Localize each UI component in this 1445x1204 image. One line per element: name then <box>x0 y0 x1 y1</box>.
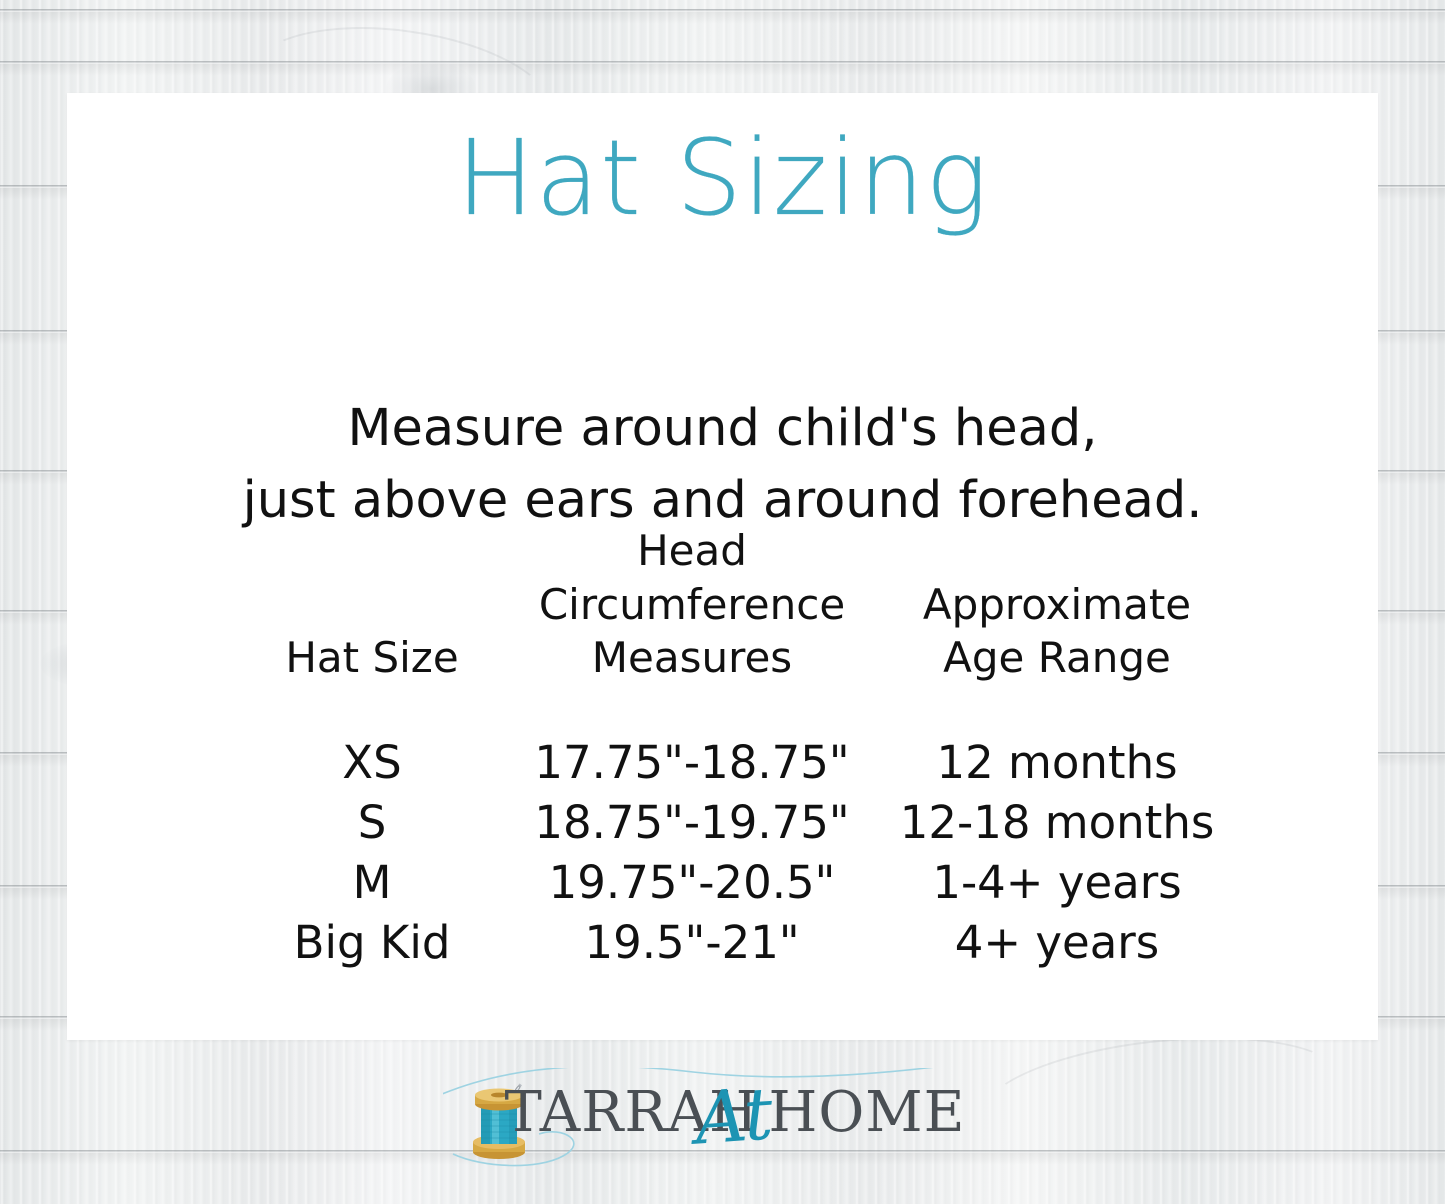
header-body-spacer <box>237 687 1237 733</box>
sizing-chart-image: Hat Sizing Measure around child's head, … <box>0 0 1445 1204</box>
header-line: Hat Size <box>285 631 458 685</box>
cell-hat-size: M <box>237 853 507 913</box>
instruction-line-1: Measure around child's head, <box>67 393 1378 465</box>
header-line: Age Range <box>943 631 1171 685</box>
brand-logo: TARRAH At HOME <box>0 1068 1445 1198</box>
logo-word-at: At <box>692 1071 773 1160</box>
header-line: Measures <box>592 631 792 685</box>
cell-age-range: 12-18 months <box>877 793 1237 853</box>
column-header-age-range: Approximate Age Range <box>877 513 1237 687</box>
header-line: Head <box>637 524 747 578</box>
cell-circumference: 19.75"-20.5" <box>507 853 877 913</box>
cell-age-range: 1-4+ years <box>877 853 1237 913</box>
column-header-hat-size: Hat Size <box>237 513 507 687</box>
cell-hat-size: Big Kid <box>237 913 507 973</box>
cell-circumference: 17.75"-18.75" <box>507 733 877 793</box>
hat-sizing-table: Hat Size Head Circumference Measures App… <box>237 513 1237 972</box>
page-title: Hat Sizing <box>67 121 1378 235</box>
cell-circumference: 18.75"-19.75" <box>507 793 877 853</box>
cell-age-range: 12 months <box>877 733 1237 793</box>
cell-hat-size: XS <box>237 733 507 793</box>
cell-circumference: 19.5"-21" <box>507 913 877 973</box>
header-line: Approximate <box>923 578 1191 632</box>
cell-age-range: 4+ years <box>877 913 1237 973</box>
cell-hat-size: S <box>237 793 507 853</box>
sizing-card: Hat Sizing Measure around child's head, … <box>67 93 1378 1040</box>
logo-word-home: HOME <box>769 1080 966 1145</box>
header-line: Circumference <box>539 578 845 632</box>
column-header-head-circumference: Head Circumference Measures <box>507 513 877 687</box>
